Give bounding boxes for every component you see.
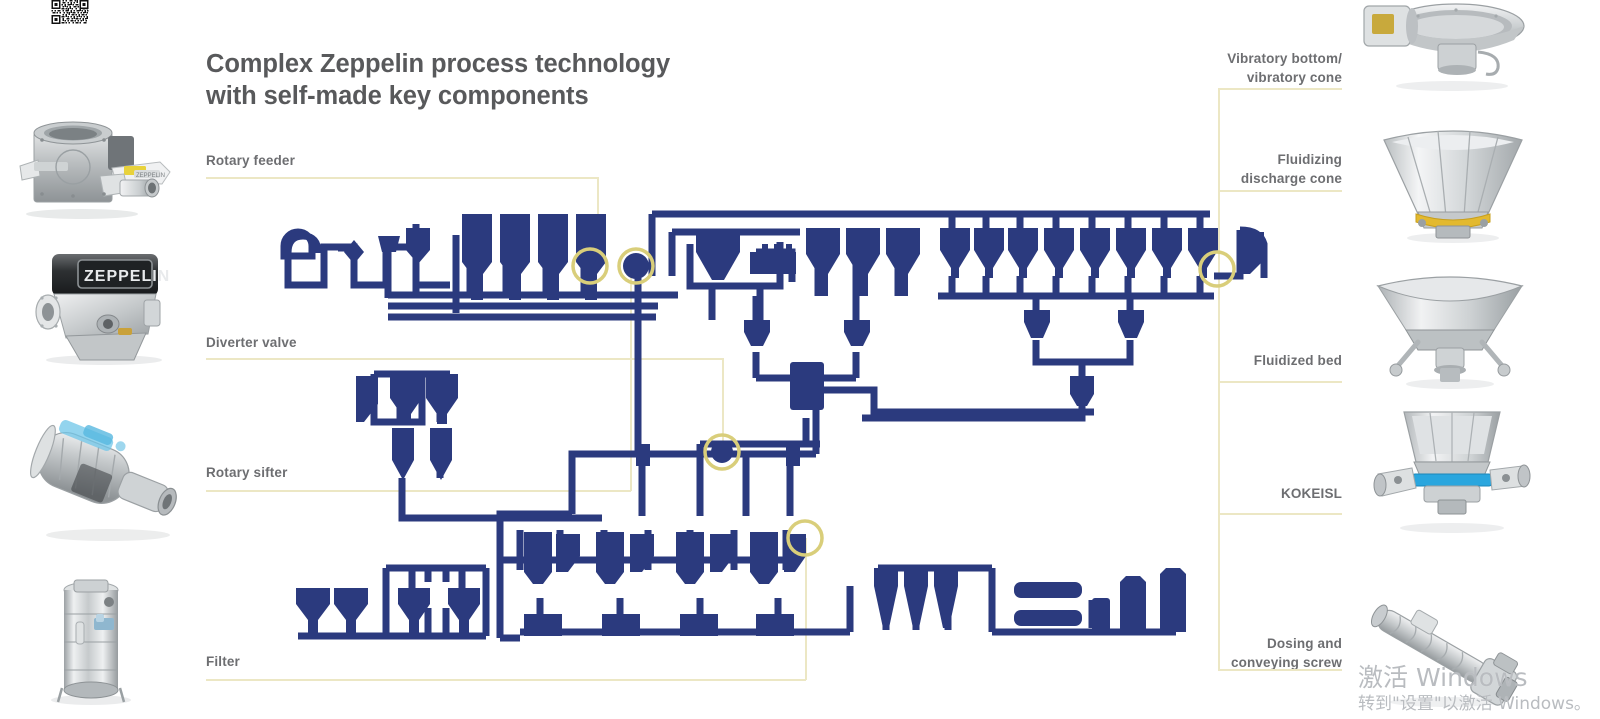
page-title: Complex Zeppelin process technology with… — [206, 48, 826, 112]
page-title-line1: Complex Zeppelin process technology — [206, 48, 826, 80]
right-label-vibratory-bottom-line2: vibratory cone — [1227, 68, 1342, 87]
svg-text:ZEPPELIN: ZEPPELIN — [84, 268, 170, 285]
diverter-valve-photo: ZEPPELIN — [22, 248, 182, 366]
rule-diverter-valve — [206, 358, 724, 360]
svg-text:ZEPPELIN: ZEPPELIN — [136, 173, 165, 179]
rule-right-spine — [1218, 88, 1220, 671]
vibratory-bottom-photo — [1356, 0, 1530, 92]
filter-photo — [36, 570, 146, 708]
left-label-diverter-valve: Diverter valve — [206, 335, 297, 350]
page-title-line2: with self-made key components — [206, 80, 826, 112]
rule-rotary-feeder — [206, 177, 598, 179]
right-label-fluidizing-cone: Fluidizing discharge cone — [1241, 150, 1342, 188]
highlight-ring-rotary-feeder — [573, 249, 607, 283]
rule-kokeisl — [1218, 513, 1342, 515]
right-label-dosing-screw-line1: Dosing and — [1231, 634, 1342, 653]
rotary-feeder-photo: ZEPPELIN — [12, 110, 188, 220]
watermark-line1: 激活 Windows — [1358, 663, 1598, 693]
rule-fluidized-bed — [1218, 381, 1342, 383]
highlight-ring-vibratory-cone — [1200, 252, 1234, 286]
qr-code[interactable] — [33, 0, 107, 24]
rule-rotary-feeder-stem — [597, 177, 599, 269]
left-label-filter: Filter — [206, 654, 240, 669]
right-label-vibratory-bottom: Vibratory bottom/ vibratory cone — [1227, 49, 1342, 87]
slide-canvas: Complex Zeppelin process technology with… — [0, 0, 1600, 719]
right-label-fluidized-bed-line1: Fluidized bed — [1254, 351, 1342, 370]
rule-filter-stem — [805, 538, 807, 680]
rule-fluidizing-cone — [1218, 190, 1342, 192]
rotary-sifter-photo — [22, 415, 190, 543]
right-label-dosing-screw: Dosing and conveying screw — [1231, 634, 1342, 672]
rule-vibratory-bottom — [1218, 88, 1342, 90]
right-label-kokeisl: KOKEISL — [1281, 484, 1342, 503]
rule-dosing-screw — [1218, 669, 1342, 671]
highlight-ring-diverter-valve — [619, 249, 653, 283]
rule-filter — [206, 679, 806, 681]
right-label-fluidizing-cone-line2: discharge cone — [1241, 169, 1342, 188]
windows-activation-watermark: 激活 Windows 转到"设置"以激活 Windows。 — [1358, 663, 1598, 715]
right-label-vibratory-bottom-line1: Vibratory bottom/ — [1227, 49, 1342, 68]
watermark-line2: 转到"设置"以激活 Windows。 — [1358, 693, 1598, 715]
right-label-fluidized-bed: Fluidized bed — [1254, 351, 1342, 370]
fluidized-bed-photo — [1374, 272, 1526, 390]
rule-rotary-sifter — [206, 490, 631, 492]
rule-rotary-sifter-stem — [630, 270, 632, 491]
kokeisl-photo — [1368, 408, 1534, 534]
left-label-rotary-feeder: Rotary feeder — [206, 153, 295, 168]
left-label-rotary-sifter: Rotary sifter — [206, 465, 287, 480]
right-label-fluidizing-cone-line1: Fluidizing — [1241, 150, 1342, 169]
fluidizing-discharge-cone-photo — [1378, 122, 1528, 244]
right-label-kokeisl-line1: KOKEISL — [1281, 484, 1342, 503]
rule-diverter-valve-stem — [722, 358, 724, 453]
